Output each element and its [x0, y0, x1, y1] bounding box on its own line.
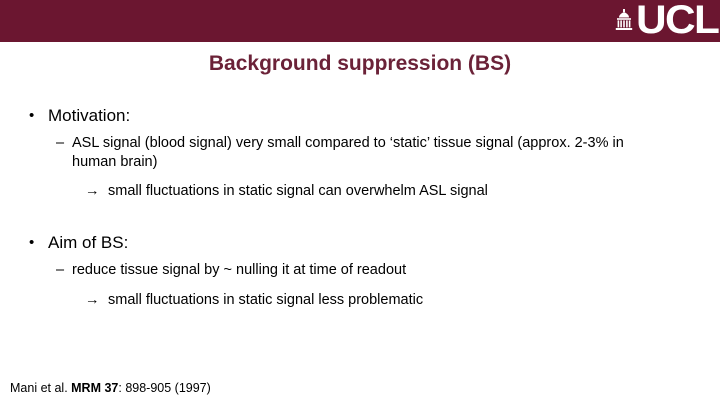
ucl-logo: UCL — [614, 1, 714, 41]
dash-marker-icon: – — [56, 134, 64, 153]
slide-body: • Motivation: – ASL signal (blood signal… — [0, 104, 720, 310]
citation-author: Mani et al. — [10, 381, 71, 395]
section-spacer — [0, 201, 720, 231]
arrow-label: small fluctuations in static signal less… — [108, 292, 423, 308]
bullet-label: Aim of BS: — [48, 233, 128, 252]
bullet-marker-icon: • — [29, 104, 34, 128]
dash-marker-icon: – — [56, 261, 64, 280]
citation-journal: MRM 37 — [71, 381, 118, 395]
citation-detail: : 898-905 (1997) — [118, 381, 210, 395]
sub-bullet-item-reduce-tissue-signal: – reduce tissue signal by ~ nulling it a… — [0, 261, 720, 280]
arrow-marker-icon: → — [85, 182, 100, 201]
sub-bullet-item-asl-signal: – ASL signal (blood signal) very small c… — [0, 134, 720, 171]
sub-bullet-label: reduce tissue signal by ~ nulling it at … — [72, 262, 406, 278]
content-section-motivation: • Motivation: – ASL signal (blood signal… — [0, 104, 720, 201]
footer-citation: Mani et al. MRM 37: 898-905 (1997) — [10, 380, 211, 396]
header-bar: UCL — [0, 0, 720, 42]
sub-bullet-label: ASL signal (blood signal) very small com… — [72, 135, 624, 170]
page-title: Background suppression (BS) — [0, 52, 720, 76]
arrow-marker-icon: → — [85, 291, 100, 310]
spacer — [0, 171, 720, 182]
bullet-item-aim-of-bs: • Aim of BS: — [0, 231, 720, 255]
arrow-item-fluctuations-overwhelm: → small fluctuations in static signal ca… — [0, 182, 720, 201]
arrow-label: small fluctuations in static signal can … — [108, 183, 488, 199]
content-section-aim-of-bs: • Aim of BS: – reduce tissue signal by ~… — [0, 231, 720, 310]
ucl-wordmark: UCL — [636, 0, 718, 40]
bullet-marker-icon: • — [29, 231, 34, 255]
ucl-portico-icon — [614, 9, 634, 31]
arrow-item-less-problematic: → small fluctuations in static signal le… — [0, 291, 720, 310]
bullet-label: Motivation: — [48, 106, 130, 125]
bullet-item-motivation: • Motivation: — [0, 104, 720, 128]
spacer — [0, 280, 720, 291]
